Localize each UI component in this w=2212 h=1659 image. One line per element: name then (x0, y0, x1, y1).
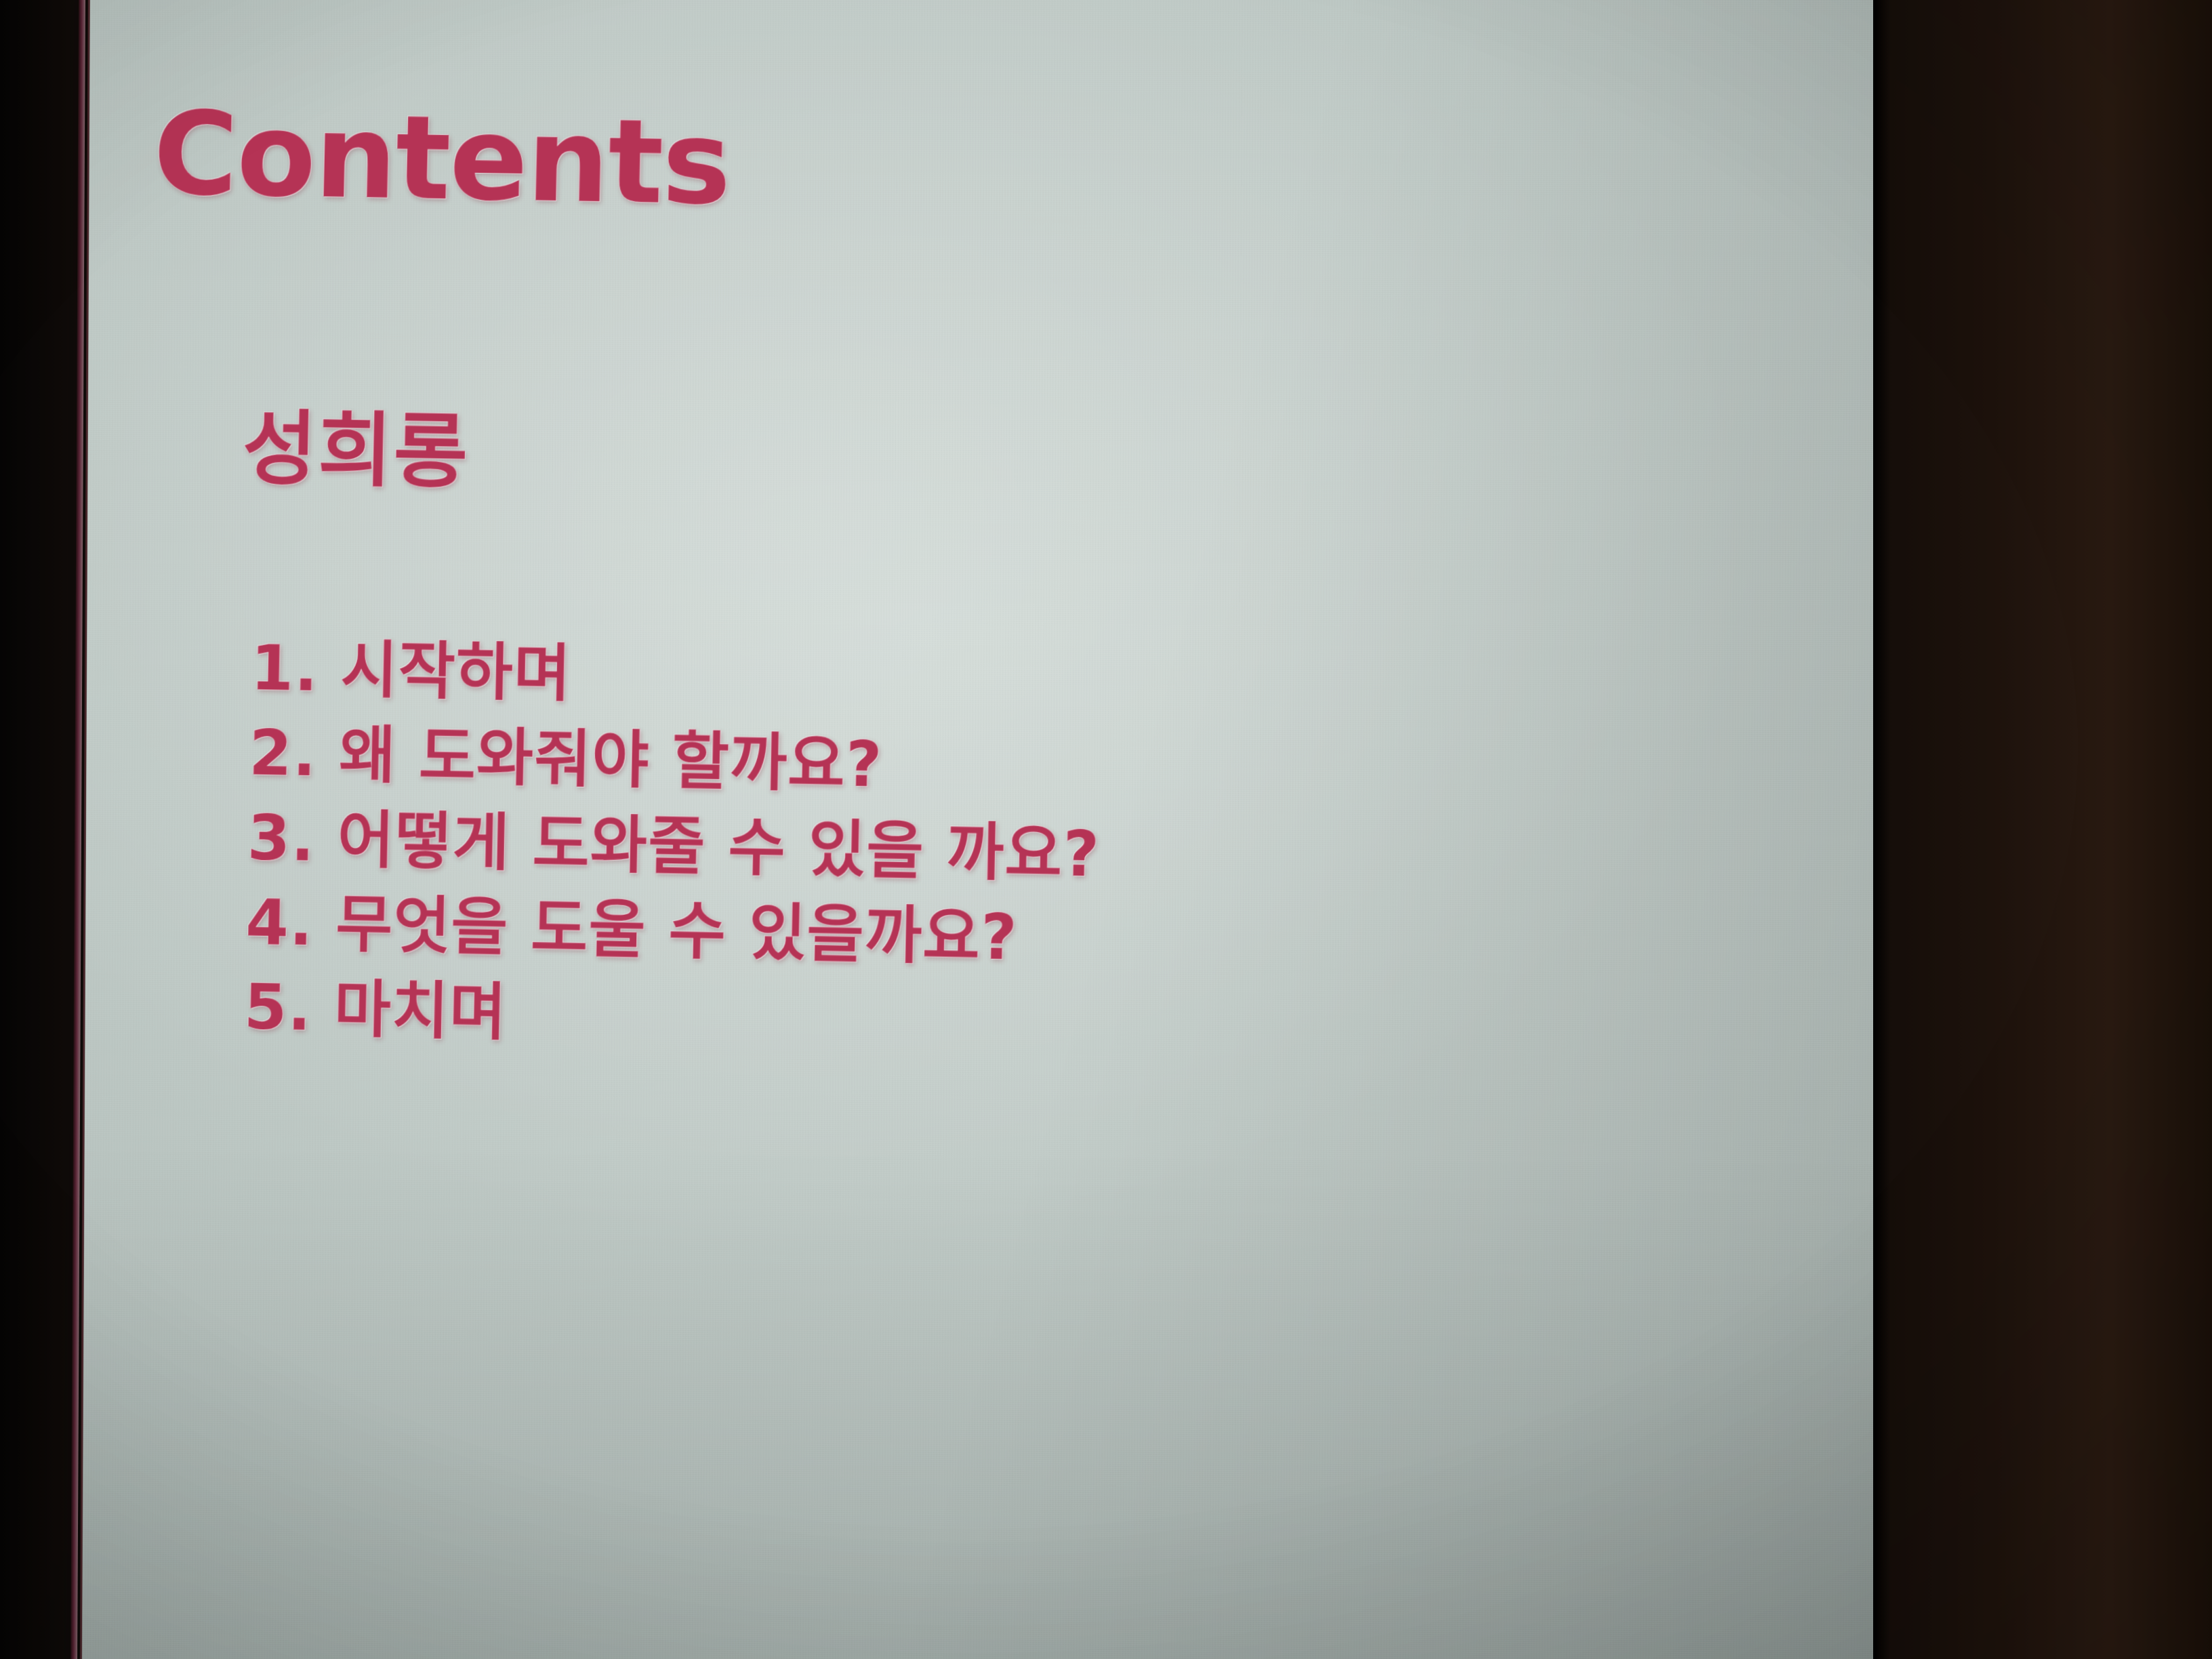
agenda-list: 1. 시작하며 2. 왜 도와줘야 할까요? 3. 어떻게 도와줄 수 있을 까… (243, 628, 1104, 1070)
projected-slide-photo: Contents 성희롱 1. 시작하며 2. 왜 도와줘야 할까요? 3. 어… (0, 0, 2212, 1659)
list-item: 5. 마치며 (243, 968, 1097, 1065)
page-title: Contents (152, 96, 731, 222)
list-item: 3. 어떻게 도와줄 수 있을 까요? (247, 798, 1101, 895)
list-item: 2. 왜 도와줘야 할까요? (248, 714, 1102, 810)
slide-content-layer: Contents 성희롱 1. 시작하며 2. 왜 도와줘야 할까요? 3. 어… (0, 0, 2212, 1659)
list-item: 4. 무엇을 도울 수 있을까요? (245, 883, 1099, 980)
list-item: 1. 시작하며 (250, 628, 1104, 724)
slide-subject-heading: 성희롱 (242, 409, 470, 494)
